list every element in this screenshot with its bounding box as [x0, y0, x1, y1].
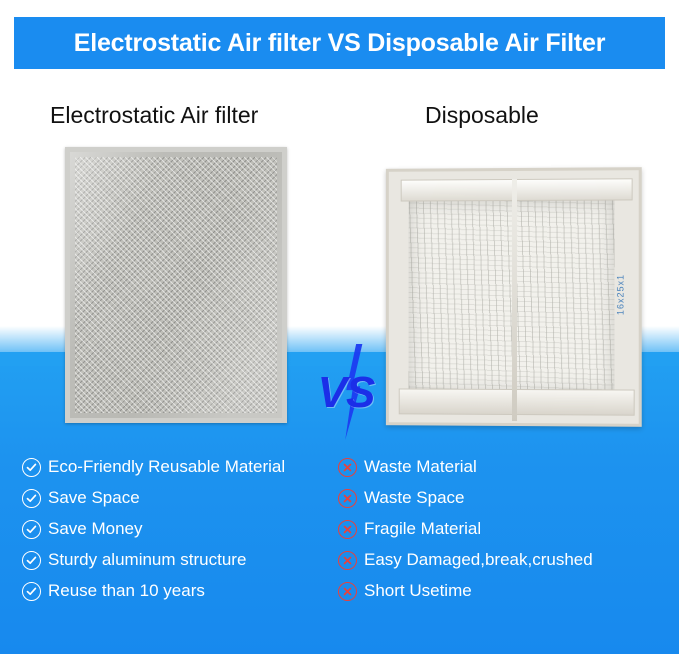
vs-badge: VS [296, 344, 396, 440]
list-item: Save Space [22, 483, 342, 513]
cons-item-label: Waste Space [364, 488, 464, 508]
disposable-center-seam [512, 179, 517, 421]
list-item: Waste Space [338, 483, 668, 513]
cons-item-label: Waste Material [364, 457, 477, 477]
check-circle-icon [22, 489, 41, 508]
header-banner: Electrostatic Air filter VS Disposable A… [14, 17, 665, 69]
right-column-title: Disposable [425, 102, 539, 129]
pros-list: Eco-Friendly Reusable Material Save Spac… [22, 452, 342, 607]
list-item: Reuse than 10 years [22, 576, 342, 606]
cross-circle-icon [338, 458, 357, 477]
cons-item-label: Easy Damaged,break,crushed [364, 550, 593, 570]
page-title: Electrostatic Air filter VS Disposable A… [74, 29, 606, 58]
electrostatic-air-filter-photo [65, 147, 287, 423]
check-circle-icon [22, 551, 41, 570]
vs-label: VS [296, 368, 396, 418]
list-item: Sturdy aluminum structure [22, 545, 342, 575]
left-column-title: Electrostatic Air filter [50, 102, 258, 129]
disposable-cardboard-frame: 16x25x1 [386, 167, 642, 427]
check-circle-icon [22, 520, 41, 539]
cross-circle-icon [338, 582, 357, 601]
cons-list: Waste Material Waste Space Fragile Mater… [338, 452, 668, 607]
filter-sheen-overlay [70, 152, 282, 418]
disposable-air-filter-photo: 16x25x1 [385, 168, 641, 426]
list-item: Easy Damaged,break,crushed [338, 545, 668, 575]
comparison-infographic: Electrostatic Air filter VS Disposable A… [0, 0, 679, 654]
list-item: Save Money [22, 514, 342, 544]
pros-item-label: Save Money [48, 519, 143, 539]
list-item: Waste Material [338, 452, 668, 482]
cross-circle-icon [338, 520, 357, 539]
pros-item-label: Sturdy aluminum structure [48, 550, 246, 570]
list-item: Eco-Friendly Reusable Material [22, 452, 342, 482]
list-item: Fragile Material [338, 514, 668, 544]
check-circle-icon [22, 582, 41, 601]
cons-item-label: Fragile Material [364, 519, 481, 539]
pros-item-label: Reuse than 10 years [48, 581, 205, 601]
list-item: Short Usetime [338, 576, 668, 606]
cross-circle-icon [338, 489, 357, 508]
pros-item-label: Save Space [48, 488, 140, 508]
pros-item-label: Eco-Friendly Reusable Material [48, 457, 285, 477]
cross-circle-icon [338, 551, 357, 570]
disposable-size-label: 16x25x1 [615, 257, 633, 331]
check-circle-icon [22, 458, 41, 477]
cons-item-label: Short Usetime [364, 581, 472, 601]
